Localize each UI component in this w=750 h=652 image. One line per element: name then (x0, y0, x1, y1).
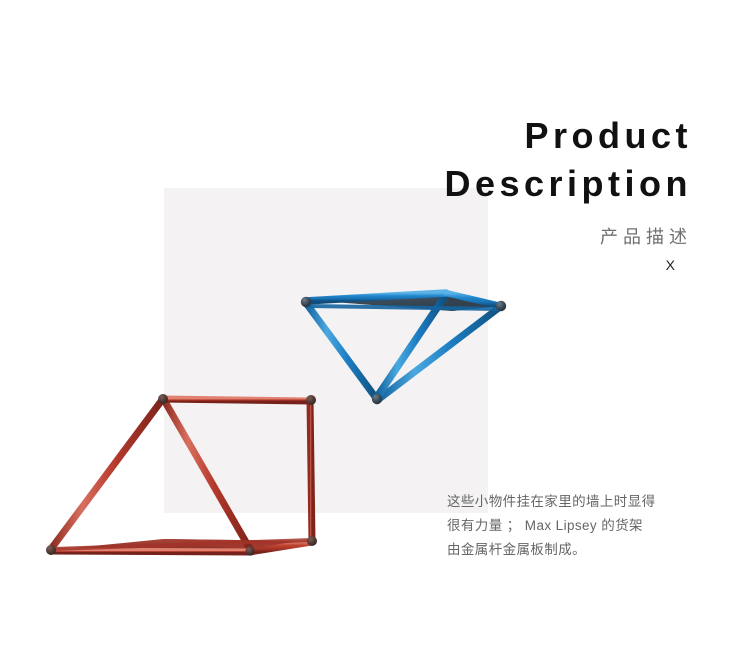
blue-joint-apex (372, 394, 382, 404)
product-description-page: Product Description 产品描述 X 这些小物件挂在家里的墙上时… (0, 0, 750, 652)
red-joint-bottom-left (46, 545, 56, 555)
blue-strut-center (377, 296, 445, 397)
red-rail-top (162, 399, 310, 401)
subtitle-chinese: 产品描述 (262, 224, 692, 250)
blue-strut-right-diagonal (379, 307, 500, 399)
blue-strut-left-diagonal (306, 303, 376, 398)
red-strut-center-diagonal (164, 400, 250, 549)
body-copy-line-1: 这些小物件挂在家里的墙上时显得 (447, 490, 709, 514)
heading-line-product: Product (262, 112, 692, 160)
red-wire-wall-shelf (46, 394, 317, 556)
red-post-right-vertical (310, 400, 312, 541)
red-joint-top-right (306, 395, 316, 405)
blue-joint-right (496, 301, 506, 311)
body-copy-line-3: 由金属杆金属板制成。 (447, 538, 709, 562)
red-rail-bottom-front (51, 551, 251, 552)
blue-wire-wall-shelf (301, 292, 506, 404)
red-joint-bottom-mid (245, 546, 254, 555)
subtitle-mark: X (262, 256, 692, 274)
heading-block: Product Description 产品描述 X (262, 112, 692, 274)
red-joint-bottom-right (307, 536, 317, 546)
red-joint-apex (158, 394, 168, 404)
body-copy-block: 这些小物件挂在家里的墙上时显得 很有力量 ； Max Lipsey 的货架 由金… (447, 490, 709, 562)
blue-joint-left (301, 297, 311, 307)
body-copy-line-2: 很有力量 ； Max Lipsey 的货架 (447, 514, 709, 538)
heading-line-description: Description (262, 160, 692, 208)
red-strut-left-diagonal (51, 400, 162, 549)
